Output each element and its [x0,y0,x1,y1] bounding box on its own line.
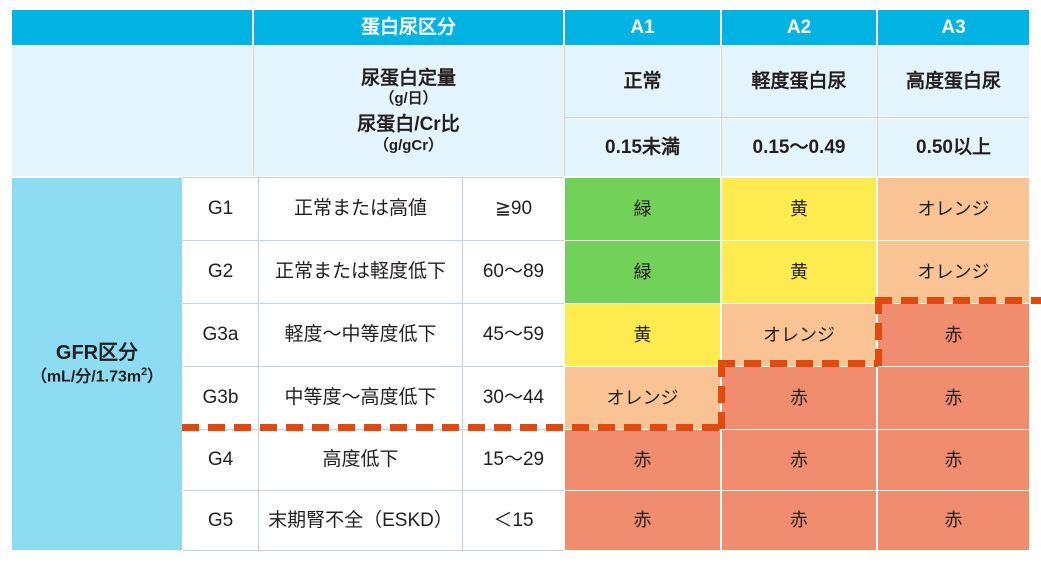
risk-boundary-dashed-mid-a2 [718,360,878,367]
grid-hline-top [183,177,564,178]
row-code-g2: G2 [183,241,258,303]
risk-cell-g2-a3: オレンジ [878,241,1029,303]
header-column-name-a2: 軽度蛋白尿 [722,46,876,117]
row-desc-g1: 正常または高値 [259,178,462,240]
header-proteinuria-group: 蛋白尿区分 [254,10,563,45]
risk-boundary-dashed-vertical-a3 [875,297,882,367]
grid-hline-g3a-g3b [183,366,564,367]
header-vline-left [253,46,254,176]
risk-cell-g2-a1: 緑 [565,241,720,303]
header-column-code-a2: A2 [722,10,876,45]
header-column-code-a1: A1 [565,10,720,45]
ckd-severity-heatmap: 蛋白尿区分 A1 A2 A3 尿蛋白定量 （g/日） 尿蛋白/Cr比 （g/gC… [0,0,1041,566]
row-desc-g3b: 中等度〜高度低下 [259,367,462,429]
header-vline-a1 [564,46,565,176]
header-column-name-a3: 高度蛋白尿 [878,46,1029,117]
header-column-name-a1: 正常 [565,46,720,117]
row-range-g1: ≧90 [463,178,564,240]
row-desc-g2: 正常または軽度低下 [259,241,462,303]
row-range-g3b: 30〜44 [463,367,564,429]
row-code-g3b: G3b [183,367,258,429]
risk-cell-g5-a3: 赤 [878,491,1029,550]
row-code-g1: G1 [183,178,258,240]
row-range-g3a: 45〜59 [463,304,564,366]
risk-cell-g4-a2: 赤 [722,430,876,490]
metric-line1: 尿蛋白定量 [361,67,456,91]
risk-cell-g4-a1: 赤 [565,430,720,490]
risk-cell-g1-a3: オレンジ [878,178,1029,240]
risk-cell-g3b-a3: 赤 [878,367,1029,429]
grid-vline-desc [462,178,463,550]
row-code-g5: G5 [183,491,258,550]
row-desc-g5: 末期腎不全（ESKD） [259,491,462,550]
row-range-g2: 60〜89 [463,241,564,303]
metric-line2: 尿蛋白/Cr比 [357,113,459,137]
header-vline-a3 [877,46,878,176]
risk-cell-g1-a2: 黄 [722,178,876,240]
risk-boundary-dashed-top-a3 [875,297,1041,304]
grid-vline-code [258,178,259,550]
grid-hline-g4-g5 [183,490,564,491]
metric-unit1: （g/日） [379,90,437,109]
metric-unit2: （g/gCr） [374,137,443,156]
row-code-g4: G4 [183,430,258,490]
risk-cell-g5-a2: 赤 [722,491,876,550]
risk-cell-g3a-a3: 赤 [878,304,1029,366]
risk-cell-g5-a1: 赤 [565,491,720,550]
header-vline-a2 [721,46,722,176]
header-separator-line [565,117,1029,118]
row-range-g5: ＜15 [463,491,564,550]
risk-cell-g3b-a2: 赤 [722,367,876,429]
risk-boundary-dashed-vertical-a2 [718,360,725,430]
risk-cell-g4-a3: 赤 [878,430,1029,490]
row-code-g3a: G3a [183,304,258,366]
risk-boundary-dashed-bottom-a1 [182,424,725,431]
risk-cell-g3a-a1: 黄 [565,304,720,366]
row-desc-g3a: 軽度〜中等度低下 [259,304,462,366]
risk-cell-g1-a1: 緑 [565,178,720,240]
header-column-range-a3: 0.50以上 [878,119,1029,176]
risk-cell-g3b-a1: オレンジ [565,367,720,429]
gfr-axis-unit: （mL/分/1.73m2） [31,366,163,387]
risk-cell-g2-a2: 黄 [722,241,876,303]
header-corner-blank [12,10,252,45]
grid-hline-g2-g3a [183,303,564,304]
header-column-range-a2: 0.15〜0.49 [722,119,876,176]
gfr-axis-title: GFR区分 [56,341,138,366]
row-range-g4: 15〜29 [463,430,564,490]
grid-hline-bottom [183,550,564,551]
grid-hline-g1-g2 [183,240,564,241]
header-column-code-a3: A3 [878,10,1029,45]
header-column-range-a1: 0.15未満 [565,119,720,176]
risk-cell-g3a-a2: オレンジ [722,304,876,366]
header-left-blank [12,46,252,176]
header-proteinuria-metrics: 尿蛋白定量 （g/日） 尿蛋白/Cr比 （g/gCr） [254,46,563,176]
gfr-axis-label: GFR区分 （mL/分/1.73m2） [12,178,182,550]
row-desc-g4: 高度低下 [259,430,462,490]
